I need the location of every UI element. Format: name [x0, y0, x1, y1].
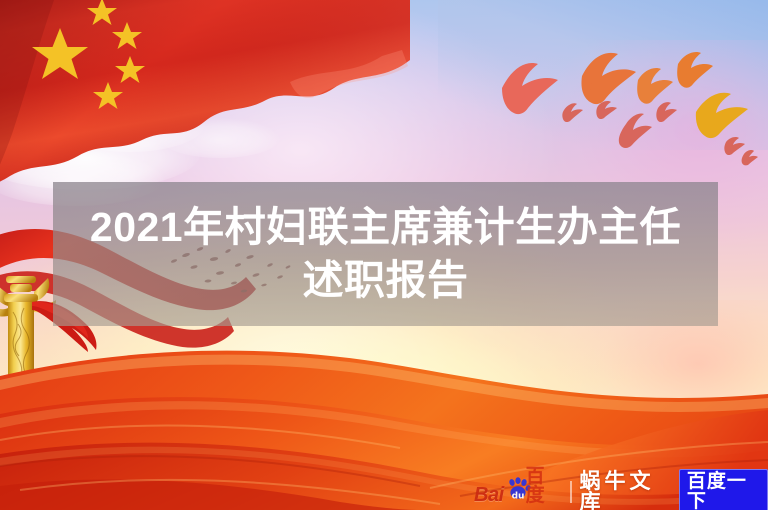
title-overlay-panel: 2021年村妇联主席兼计生办主任 述职报告 [53, 182, 718, 326]
baidu-logo-chinese: 百度 [526, 467, 562, 505]
document-cover-image: 2021年村妇联主席兼计生办主任 述职报告 Bai du 百度 [0, 0, 768, 510]
bird-flock-icon [486, 46, 768, 166]
site-name-label: 蜗牛文库 [580, 471, 671, 510]
baidu-logo-latin: Bai [474, 485, 504, 505]
baidu-search-button[interactable]: 百度一下 [679, 469, 768, 510]
page-title-line-1: 2021年村妇联主席兼计生办主任 [90, 202, 681, 253]
baidu-logo[interactable]: Bai du 百度 [474, 479, 562, 505]
page-title-line-2: 述职报告 [303, 255, 469, 306]
watermark-divider [570, 481, 572, 503]
watermark-bar: Bai du 百度 蜗牛文库 百度一下 [474, 478, 768, 506]
paw-du-label: du [512, 492, 525, 502]
